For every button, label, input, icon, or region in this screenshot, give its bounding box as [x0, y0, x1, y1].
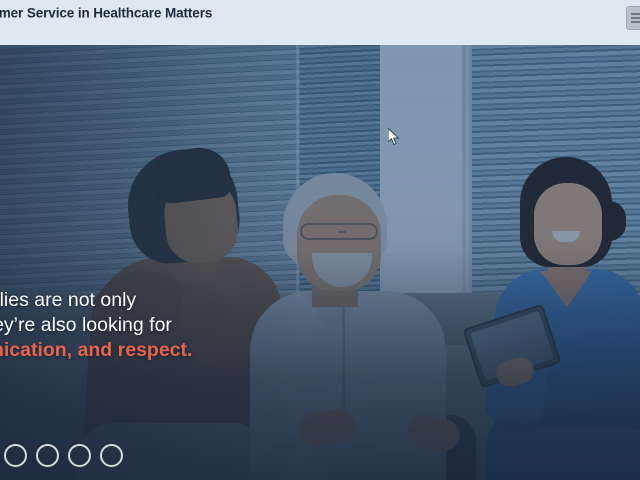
page-title: Briefs® Why Customer Service in Healthca…: [0, 5, 212, 21]
pagination-dot-4[interactable]: [68, 444, 91, 467]
pagination-dot-3[interactable]: [36, 444, 59, 467]
hero-image: [0, 45, 640, 480]
hero-headline: nts and their families are not only ng t…: [0, 288, 490, 363]
hero-banner: nts and their families are not only ng t…: [0, 45, 640, 480]
hero-headline-line-3: assion, communication, and respect.: [0, 338, 490, 363]
hero-headline-line-1: nts and their families are not only: [0, 288, 490, 313]
page-header: Briefs® Why Customer Service in Healthca…: [0, 0, 640, 45]
pagination-dot-2[interactable]: [4, 444, 27, 467]
hamburger-icon: [631, 13, 640, 15]
menu-button[interactable]: [626, 6, 640, 30]
hero-headline-line-2: ng treatment - they’re also looking for: [0, 313, 490, 338]
pagination-dot-5[interactable]: [100, 444, 123, 467]
header-content: Briefs® Why Customer Service in Healthca…: [0, 0, 640, 45]
carousel-pagination[interactable]: [0, 444, 123, 467]
page-title-rest: Why Customer Service in Healthcare Matte…: [0, 6, 212, 21]
